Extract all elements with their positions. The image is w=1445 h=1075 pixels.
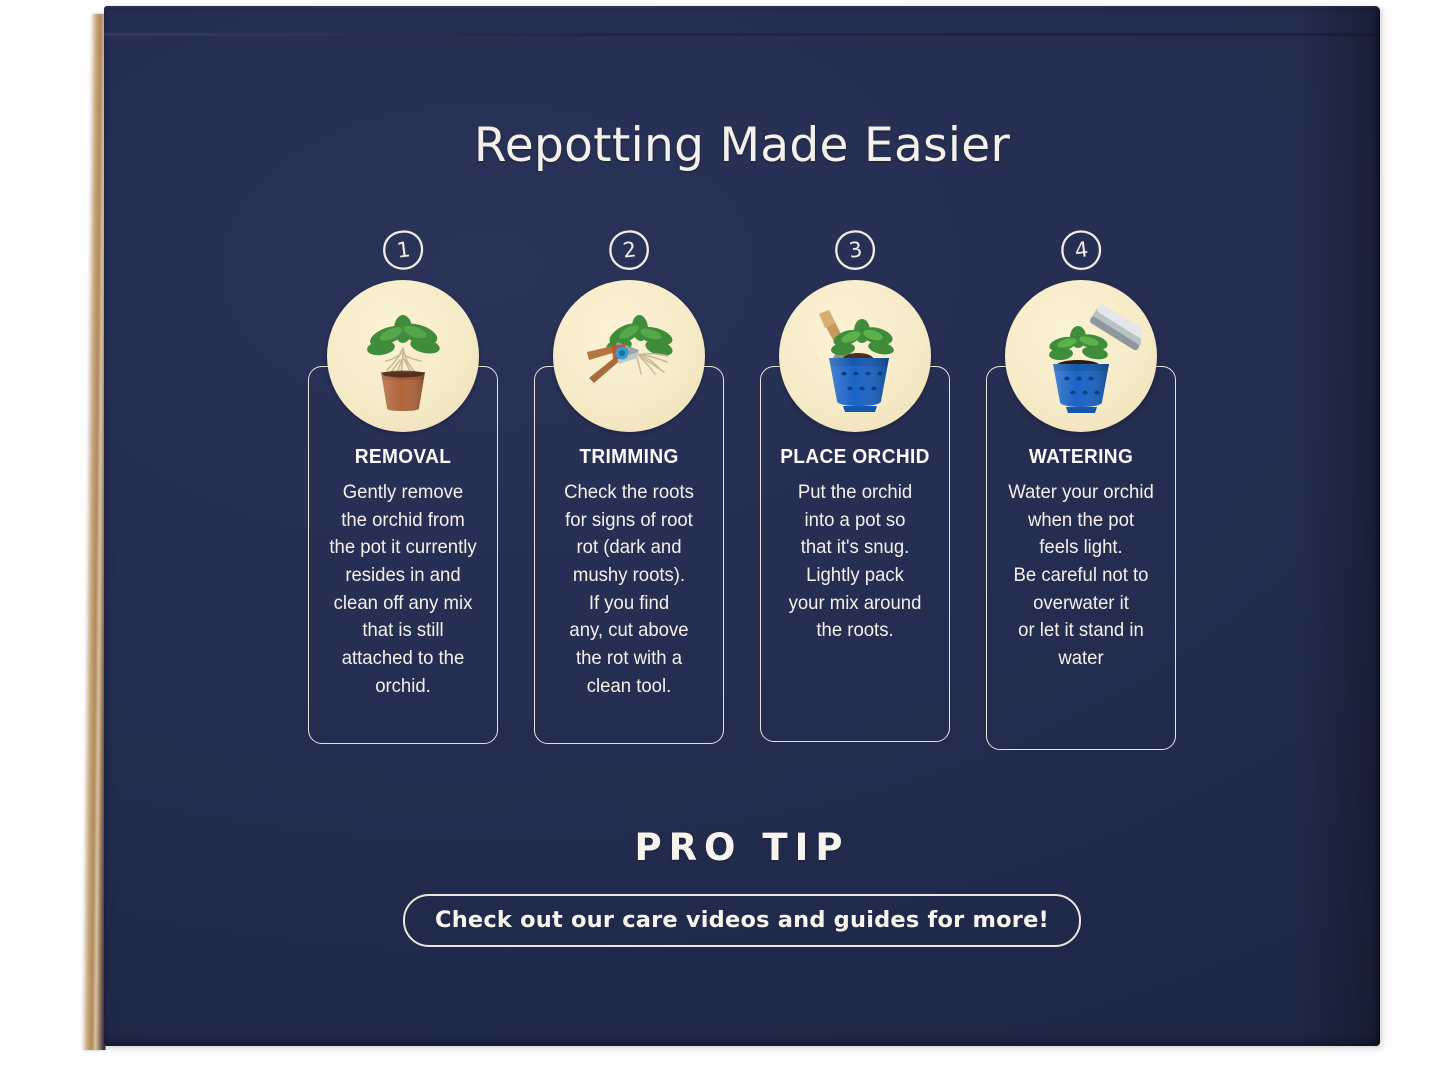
- step-card-title-1: REMOVAL: [323, 445, 483, 469]
- step-number-label-3: 3: [830, 225, 879, 274]
- repotting-steps-row: 1: [299, 228, 1185, 750]
- pro-tip-pill-wrapper: Check out our care videos and guides for…: [104, 894, 1380, 947]
- step-number-badge-3: 3: [833, 228, 877, 272]
- product-box-back-panel: Repotting Made Easier 1: [104, 6, 1380, 1046]
- orchid-bare-roots-over-terracotta-pot-icon: [327, 280, 479, 432]
- page-background: Repotting Made Easier 1: [0, 0, 1445, 1075]
- step-number-badge-4: 4: [1059, 228, 1103, 272]
- step-3-place-orchid: 3: [751, 228, 959, 742]
- step-card-body-2: Check the roots for signs of root rot (d…: [547, 479, 710, 701]
- trowel-adding-mix-to-blue-pot-icon: [779, 280, 931, 432]
- step-card-title-3: PLACE ORCHID: [775, 445, 935, 469]
- step-card-body-3: Put the orchid into a pot so that it's s…: [773, 479, 936, 645]
- step-number-label-1: 1: [378, 225, 427, 274]
- page-title: Repotting Made Easier: [104, 118, 1380, 173]
- step-card-body-1: Gently remove the orchid from the pot it…: [321, 479, 484, 701]
- step-number-badge-2: 2: [607, 228, 651, 272]
- care-videos-pill[interactable]: Check out our care videos and guides for…: [403, 894, 1081, 947]
- step-2-trimming: 2: [525, 228, 733, 744]
- pruning-shears-cutting-roots-icon: [553, 280, 705, 432]
- step-4-watering: 4: [977, 228, 1185, 750]
- step-number-label-4: 4: [1056, 225, 1105, 274]
- step-card-title-2: TRIMMING: [549, 445, 709, 469]
- watering-can-pouring-on-potted-orchid-icon: [1005, 280, 1157, 432]
- step-number-badge-1: 1: [381, 228, 425, 272]
- pro-tip-heading: PRO TIP: [104, 826, 1380, 869]
- step-number-label-2: 2: [604, 225, 653, 274]
- step-card-body-4: Water your orchid when the pot feels lig…: [999, 479, 1162, 673]
- step-card-title-4: WATERING: [1001, 445, 1161, 469]
- step-1-removal: 1: [299, 228, 507, 744]
